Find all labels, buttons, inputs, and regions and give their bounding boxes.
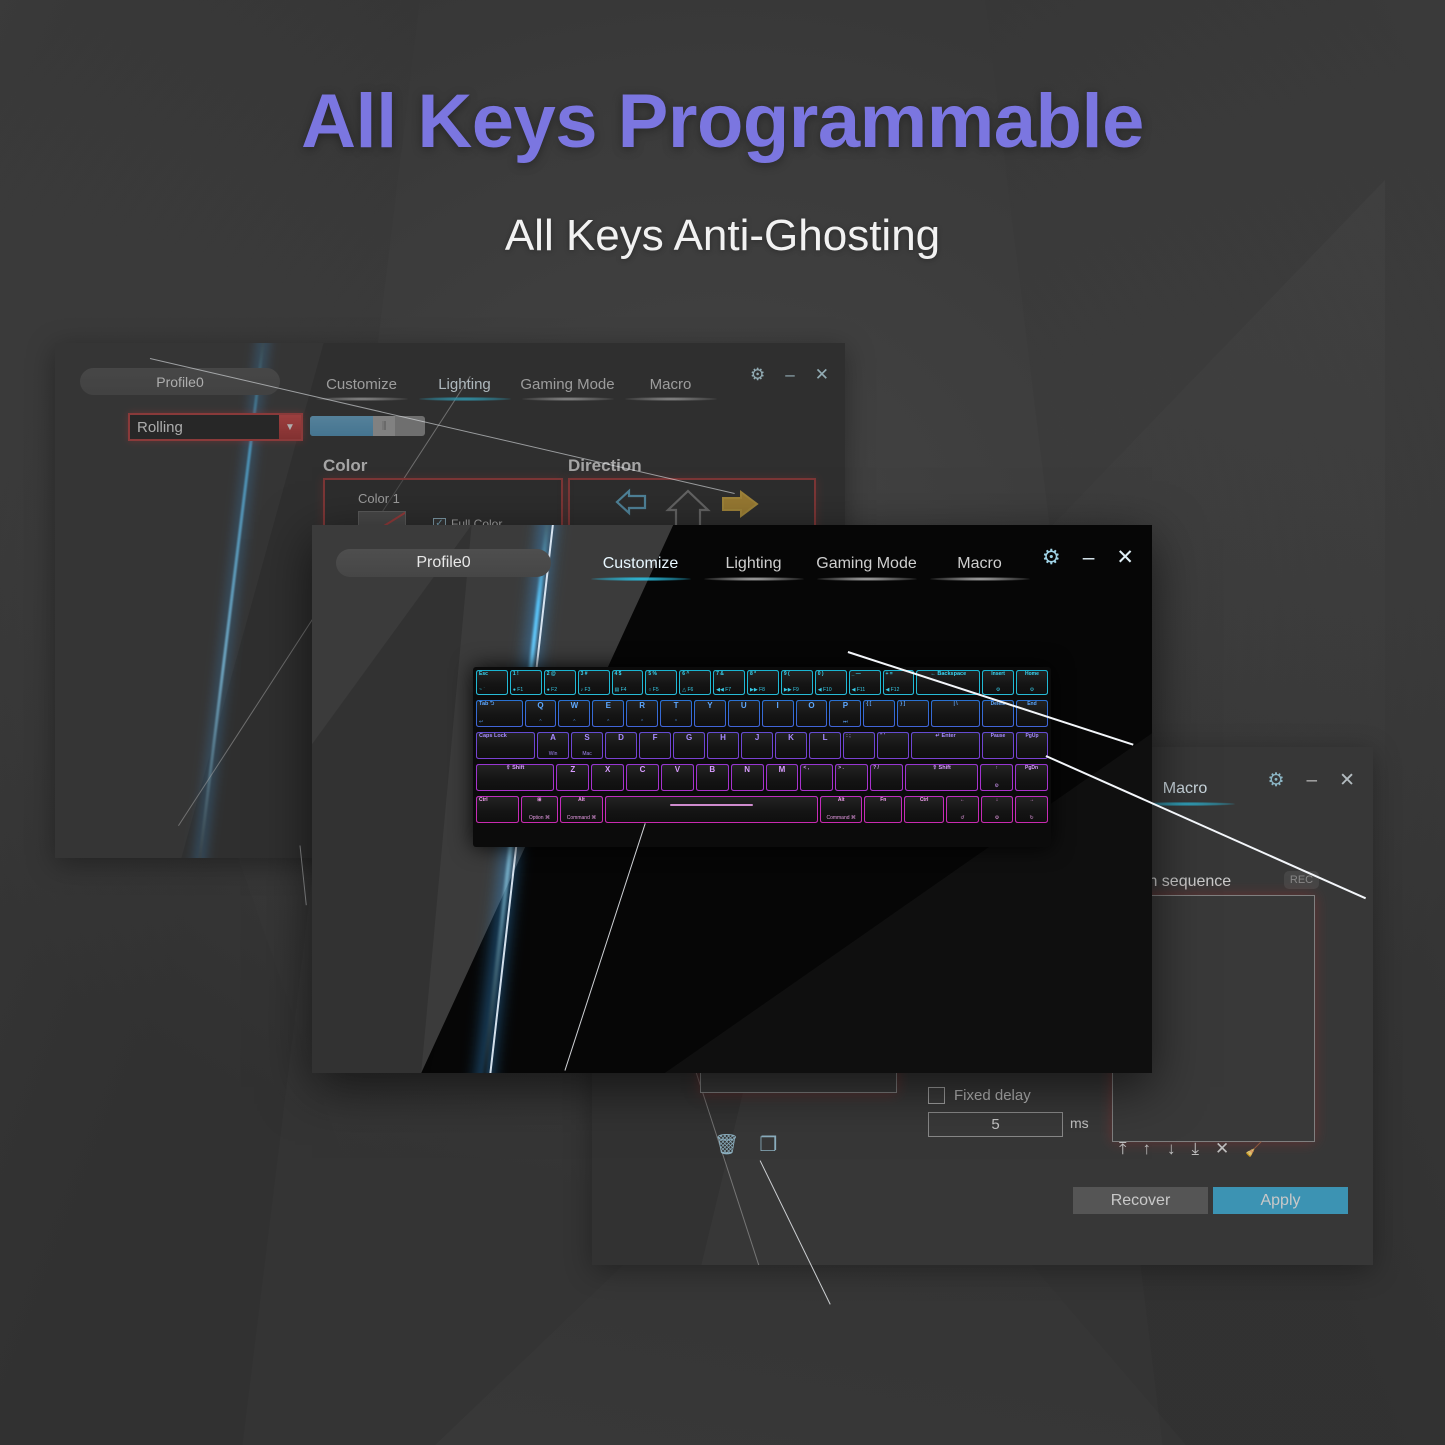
key-face: Home⚙: [1017, 671, 1047, 694]
keyboard-key[interactable]: Insert⚙: [982, 670, 1014, 695]
keyboard-key[interactable]: AltCommand ⌘: [820, 796, 863, 823]
key-primary-legend: ⊞: [524, 798, 556, 803]
keyboard-key[interactable]: O: [796, 700, 828, 727]
keyboard-key[interactable]: 8 *▶▶ F8: [747, 670, 779, 695]
keyboard-key[interactable]: < ,: [800, 764, 833, 791]
key-primary-legend: ? /: [873, 766, 900, 771]
page-title: All Keys Programmable: [0, 78, 1445, 165]
key-face: L: [810, 733, 840, 758]
keyboard-key[interactable]: 9 (▶▶ F9: [781, 670, 813, 695]
key-primary-legend: R: [629, 702, 655, 710]
keyboard-key[interactable]: U: [728, 700, 760, 727]
keyboard-key[interactable]: 3 #♪ F3: [578, 670, 610, 695]
key-face: E⌃: [593, 701, 623, 726]
key-primary-legend: M: [769, 766, 796, 774]
keyboard-key[interactable]: ↓⚙: [981, 796, 1014, 823]
key-primary-legend: ⇧ Shift: [479, 766, 551, 772]
key-face: ⇧ Shift: [477, 765, 553, 790]
tab-lighting[interactable]: Lighting: [697, 555, 810, 581]
key-primary-legend: Caps Lock: [479, 734, 532, 740]
key-secondary-legend: △ F6: [682, 688, 708, 693]
key-secondary-legend: ▤ F4: [615, 688, 641, 693]
key-primary-legend: Alt: [563, 798, 600, 803]
key-primary-legend: Home: [1019, 672, 1045, 677]
keyboard-key[interactable]: ? /: [870, 764, 903, 791]
key-primary-legend: B: [699, 766, 726, 774]
key-secondary-legend: ● F1: [513, 688, 539, 693]
key-primary-legend: J: [744, 734, 770, 742]
key-face: 8 *▶▶ F8: [748, 671, 778, 694]
key-primary-legend: Esc: [479, 672, 505, 677]
key-face: H: [708, 733, 738, 758]
key-secondary-legend: ◀ F10: [818, 688, 844, 693]
keyboard-key[interactable]: →↻: [1015, 796, 1048, 823]
key-face: 1 !● F1: [511, 671, 541, 694]
key-primary-legend: C: [629, 766, 656, 774]
keyboard-key[interactable]: 1 !● F1: [510, 670, 542, 695]
tab-customize-rule: [591, 577, 691, 581]
keyboard-key[interactable]: ⇧ Shift: [476, 764, 554, 791]
keyboard-key[interactable]: C: [626, 764, 659, 791]
key-primary-legend: { [: [866, 702, 892, 707]
key-primary-legend: } ]: [900, 702, 926, 707]
key-face: W⌃: [559, 701, 589, 726]
keyboard-key[interactable]: F: [639, 732, 671, 759]
key-secondary-legend: ⌃: [528, 720, 554, 725]
keyboard-key[interactable]: 2 @● F2: [544, 670, 576, 695]
key-face: F: [640, 733, 670, 758]
key-primary-legend: Z: [559, 766, 586, 774]
keyboard-key[interactable]: X: [591, 764, 624, 791]
key-face: 3 #♪ F3: [579, 671, 609, 694]
key-secondary-legend: ↺: [949, 816, 976, 821]
spacebar-indicator: [670, 804, 753, 806]
keyboard-key[interactable]: E⌃: [592, 700, 624, 727]
keyboard-key[interactable]: : ;: [843, 732, 875, 759]
key-secondary-legend: ◀◀ F7: [716, 688, 742, 693]
key-face: J: [742, 733, 772, 758]
key-face: Q⌃: [526, 701, 556, 726]
key-secondary-legend: ● F2: [547, 688, 573, 693]
keyboard-key[interactable]: Pause: [982, 732, 1014, 759]
key-face: SMac: [572, 733, 602, 758]
key-primary-legend: S: [574, 734, 600, 742]
keyboard-key[interactable]: SMac: [571, 732, 603, 759]
keyboard-key[interactable]: B: [696, 764, 729, 791]
key-face: Caps Lock: [477, 733, 534, 758]
key-face: B: [697, 765, 728, 790]
key-face: ⊞Option ⌘: [522, 797, 558, 822]
key-primary-legend: PgUp: [1019, 734, 1045, 739]
key-primary-legend: U: [731, 702, 757, 710]
key-face: ↓⚙: [982, 797, 1013, 822]
key-primary-legend: | \: [934, 702, 977, 707]
key-face: ↵ Enter: [912, 733, 979, 758]
tab-macro-label: Macro: [923, 555, 1036, 573]
key-primary-legend: Y: [697, 702, 723, 710]
key-face: PgUp: [1017, 733, 1047, 758]
keyboard-key[interactable]: K: [775, 732, 807, 759]
keyboard-key[interactable]: PgUp: [1016, 732, 1048, 759]
keyboard-key[interactable]: ↵ Enter: [911, 732, 980, 759]
key-primary-legend: 5 %: [648, 672, 674, 677]
key-face: AltCommand ⌘: [561, 797, 602, 822]
key-primary-legend: ⇧ Shift: [908, 766, 975, 772]
key-primary-legend: < ,: [803, 766, 830, 771]
keyboard-row: Esc~ `1 !● F12 @● F23 #♪ F34 $▤ F45 %○ F…: [476, 670, 1048, 698]
key-primary-legend: A: [540, 734, 566, 742]
key-primary-legend: : ;: [846, 734, 872, 739]
key-primary-legend: G: [676, 734, 702, 742]
keyboard-row: Tab ⮌↩Q⌃W⌃E⌃R⌃T⌃YUIOP⏭{ [} ]| \DeleteEnd: [476, 700, 1048, 730]
key-secondary-legend: ⌃: [595, 720, 621, 725]
keyboard-key[interactable]: Tab ⮌↩: [476, 700, 523, 727]
tab-macro[interactable]: Macro: [923, 555, 1036, 581]
keyboard-row: ⇧ ShiftZXCVBNM< ,> .? /⇧ Shift↑⚙PgDn: [476, 764, 1048, 794]
keyboard-key[interactable]: G: [673, 732, 705, 759]
key-primary-legend: 0 ): [818, 672, 844, 677]
key-primary-legend: ↵ Enter: [914, 734, 977, 740]
key-face: R⌃: [627, 701, 657, 726]
key-face: 6 ^△ F6: [680, 671, 710, 694]
keyboard-key[interactable]: ↑⚙: [980, 764, 1013, 791]
keyboard-key[interactable]: AWin: [537, 732, 569, 759]
key-primary-legend: ↑: [983, 766, 1010, 771]
keyboard-key[interactable]: ⇧ Shift: [905, 764, 978, 791]
key-secondary-legend: ⌃: [561, 720, 587, 725]
key-secondary-legend: ⚙: [984, 816, 1011, 821]
key-secondary-legend: Option ⌘: [524, 816, 556, 821]
keyboard-key[interactable]: [605, 796, 818, 823]
tab-customize-label: Customize: [584, 555, 697, 573]
key-face: 4 $▤ F4: [613, 671, 643, 694]
key-face: > .: [836, 765, 867, 790]
key-face: } ]: [898, 701, 928, 726]
key-face: D: [606, 733, 636, 758]
key-primary-legend: 3 #: [581, 672, 607, 677]
key-primary-legend: V: [664, 766, 691, 774]
key-face: 5 %○ F5: [646, 671, 676, 694]
key-secondary-legend: Mac: [574, 752, 600, 757]
key-secondary-legend: Win: [540, 752, 566, 757]
keyboard-key[interactable]: H: [707, 732, 739, 759]
key-primary-legend: L: [812, 734, 838, 742]
key-secondary-legend: Command ⌘: [823, 816, 860, 821]
keyboard-rows: Esc~ `1 !● F12 @● F23 #♪ F34 $▤ F45 %○ F…: [476, 670, 1048, 844]
key-face: : ;: [844, 733, 874, 758]
keyboard-key[interactable]: Z: [556, 764, 589, 791]
key-primary-legend: 1 !: [513, 672, 539, 677]
key-face: [606, 797, 817, 822]
key-primary-legend: End: [1019, 702, 1045, 707]
keyboard-key[interactable]: M: [766, 764, 799, 791]
key-face: ? /: [871, 765, 902, 790]
key-face: _ —◀ F11: [850, 671, 880, 694]
profile-label: Profile0: [416, 554, 470, 572]
key-face: PgDn: [1016, 765, 1047, 790]
keyboard-key[interactable]: 0 )◀ F10: [815, 670, 847, 695]
key-secondary-legend: ▶▶ F8: [750, 688, 776, 693]
keyboard-key[interactable]: Y: [694, 700, 726, 727]
keyboard-key[interactable]: { [: [863, 700, 895, 727]
keyboard-key[interactable]: Esc~ `: [476, 670, 508, 695]
tab-gaming-mode-rule: [817, 577, 917, 581]
key-face: Ctrl: [905, 797, 943, 822]
key-face: Pause: [983, 733, 1013, 758]
key-secondary-legend: ↻: [1018, 816, 1045, 821]
keyboard-key[interactable]: P⏭: [829, 700, 861, 727]
key-secondary-legend: ⌃: [663, 720, 689, 725]
tab-gaming-mode-label: Gaming Mode: [810, 555, 923, 573]
key-face: Z: [557, 765, 588, 790]
key-face: ←↺: [947, 797, 978, 822]
key-face: + =◀ F12: [884, 671, 914, 694]
keyboard-key[interactable]: R⌃: [626, 700, 658, 727]
keyboard-key[interactable]: } ]: [897, 700, 929, 727]
tab-customize[interactable]: Customize: [584, 555, 697, 581]
keyboard-key[interactable]: D: [605, 732, 637, 759]
key-primary-legend: Insert: [985, 672, 1011, 677]
keyboard-key[interactable]: T⌃: [660, 700, 692, 727]
key-face: 0 )◀ F10: [816, 671, 846, 694]
keyboard-key[interactable]: W⌃: [558, 700, 590, 727]
key-primary-legend: →: [1018, 798, 1045, 803]
keyboard-key[interactable]: Caps Lock: [476, 732, 535, 759]
key-primary-legend: 9 (: [784, 672, 810, 677]
keyboard-key[interactable]: 5 %○ F5: [645, 670, 677, 695]
key-primary-legend: H: [710, 734, 736, 742]
key-face: < ,: [801, 765, 832, 790]
key-secondary-legend: ▶▶ F9: [784, 688, 810, 693]
keyboard-key[interactable]: AltCommand ⌘: [560, 796, 603, 823]
key-face: Insert⚙: [983, 671, 1013, 694]
key-face: K: [776, 733, 806, 758]
key-primary-legend: 2 @: [547, 672, 573, 677]
customize-window-controls: ⚙ – ✕: [1042, 545, 1134, 570]
key-primary-legend: D: [608, 734, 634, 742]
key-secondary-legend: ↩: [479, 720, 520, 725]
key-primary-legend: + =: [886, 672, 912, 677]
key-face: V: [662, 765, 693, 790]
key-face: { [: [864, 701, 894, 726]
key-face: Fn: [865, 797, 901, 822]
tab-lighting-rule: [704, 577, 804, 581]
key-primary-legend: W: [561, 702, 587, 710]
key-primary-legend: X: [594, 766, 621, 774]
keyboard-key[interactable]: " ': [877, 732, 909, 759]
key-primary-legend: Fn: [867, 798, 899, 803]
key-primary-legend: 4 $: [615, 672, 641, 677]
close-icon[interactable]: ✕: [1116, 545, 1134, 570]
key-secondary-legend: ~ `: [479, 688, 505, 693]
keyboard-row: Caps LockAWinSMacDFGHJKL: ;" '↵ EnterPau…: [476, 732, 1048, 762]
key-primary-legend: N: [734, 766, 761, 774]
key-primary-legend: O: [799, 702, 825, 710]
tab-macro-rule: [930, 577, 1030, 581]
keyboard-key[interactable]: > .: [835, 764, 868, 791]
key-secondary-legend: ◀ F12: [886, 688, 912, 693]
key-primary-legend: ↓: [984, 798, 1011, 803]
key-primary-legend: ←: [949, 798, 976, 803]
keyboard-key[interactable]: V: [661, 764, 694, 791]
key-primary-legend: F: [642, 734, 668, 742]
key-face: Esc~ `: [477, 671, 507, 694]
keyboard-key[interactable]: _ —◀ F11: [849, 670, 881, 695]
key-face: I: [763, 701, 793, 726]
key-face: 2 @● F2: [545, 671, 575, 694]
keyboard-preview[interactable]: Esc~ `1 !● F12 @● F23 #♪ F34 $▤ F45 %○ F…: [473, 667, 1051, 847]
key-face: →↻: [1016, 797, 1047, 822]
key-primary-legend: Pause: [985, 734, 1011, 739]
keyboard-key[interactable]: ⊞Option ⌘: [521, 796, 559, 823]
gear-icon[interactable]: ⚙: [1042, 545, 1061, 570]
key-primary-legend: Q: [528, 702, 554, 710]
key-face: P⏭: [830, 701, 860, 726]
key-face: " ': [878, 733, 908, 758]
keyboard-key[interactable]: I: [762, 700, 794, 727]
key-face: C: [627, 765, 658, 790]
key-secondary-legend: ♪ F3: [581, 688, 607, 693]
key-secondary-legend: ⚙: [983, 784, 1010, 789]
profile-selector[interactable]: Profile0: [336, 549, 551, 577]
key-face: ⇧ Shift: [906, 765, 977, 790]
key-face: G: [674, 733, 704, 758]
keyboard-key[interactable]: 6 ^△ F6: [679, 670, 711, 695]
keyboard-key[interactable]: J: [741, 732, 773, 759]
minimize-icon[interactable]: –: [1083, 546, 1095, 570]
keyboard-key[interactable]: 4 $▤ F4: [612, 670, 644, 695]
key-face: AltCommand ⌘: [821, 797, 862, 822]
key-secondary-legend: ⚙: [985, 688, 1011, 693]
customize-window-tabs: Customize Lighting Gaming Mode Macro: [584, 555, 1036, 581]
keyboard-key[interactable]: PgDn: [1015, 764, 1048, 791]
key-primary-legend: PgDn: [1018, 766, 1045, 771]
key-face: T⌃: [661, 701, 691, 726]
key-primary-legend: Ctrl: [907, 798, 941, 803]
key-face: Y: [695, 701, 725, 726]
keyboard-key[interactable]: Ctrl: [476, 796, 519, 823]
key-primary-legend: 7 &: [716, 672, 742, 677]
key-primary-legend: I: [765, 702, 791, 710]
key-primary-legend: _ —: [852, 672, 878, 677]
key-secondary-legend: ⏭: [832, 720, 858, 725]
key-face: 9 (▶▶ F9: [782, 671, 812, 694]
key-face: U: [729, 701, 759, 726]
key-primary-legend: " ': [880, 734, 906, 739]
key-face: N: [732, 765, 763, 790]
keyboard-key[interactable]: Home⚙: [1016, 670, 1048, 695]
keyboard-key[interactable]: | \: [931, 700, 980, 727]
key-primary-legend: 8 *: [750, 672, 776, 677]
key-primary-legend: K: [778, 734, 804, 742]
page-subtitle: All Keys Anti-Ghosting: [0, 211, 1445, 261]
key-primary-legend: > .: [838, 766, 865, 771]
key-face: ↑⚙: [981, 765, 1012, 790]
keyboard-key[interactable]: Fn: [864, 796, 902, 823]
key-face: M: [767, 765, 798, 790]
key-face: X: [592, 765, 623, 790]
keyboard-key[interactable]: Ctrl: [904, 796, 944, 823]
tab-lighting-label: Lighting: [697, 555, 810, 573]
keyboard-key[interactable]: 7 &◀◀ F7: [713, 670, 745, 695]
key-primary-legend: T: [663, 702, 689, 710]
key-face: | \: [932, 701, 979, 726]
keyboard-key[interactable]: N: [731, 764, 764, 791]
key-face: O: [797, 701, 827, 726]
key-face: Ctrl: [477, 797, 518, 822]
key-secondary-legend: ⌃: [629, 720, 655, 725]
key-face: Tab ⮌↩: [477, 701, 522, 726]
keyboard-row: Ctrl⊞Option ⌘AltCommand ⌘AltCommand ⌘FnC…: [476, 796, 1048, 826]
keyboard-key[interactable]: L: [809, 732, 841, 759]
key-primary-legend: 6 ^: [682, 672, 708, 677]
key-primary-legend: E: [595, 702, 621, 710]
key-face: 7 &◀◀ F7: [714, 671, 744, 694]
key-secondary-legend: ○ F5: [648, 688, 674, 693]
key-secondary-legend: Command ⌘: [563, 816, 600, 821]
key-primary-legend: Ctrl: [479, 798, 516, 803]
key-primary-legend: Alt: [823, 798, 860, 803]
key-secondary-legend: ◀ F11: [852, 688, 878, 693]
key-face: AWin: [538, 733, 568, 758]
keyboard-key[interactable]: ←↺: [946, 796, 979, 823]
key-primary-legend: Tab ⮌: [479, 702, 520, 708]
keyboard-key[interactable]: + =◀ F12: [883, 670, 915, 695]
key-primary-legend: P: [832, 702, 858, 710]
tab-gaming-mode[interactable]: Gaming Mode: [810, 555, 923, 581]
key-secondary-legend: ⚙: [1019, 688, 1045, 693]
keyboard-key[interactable]: Q⌃: [525, 700, 557, 727]
